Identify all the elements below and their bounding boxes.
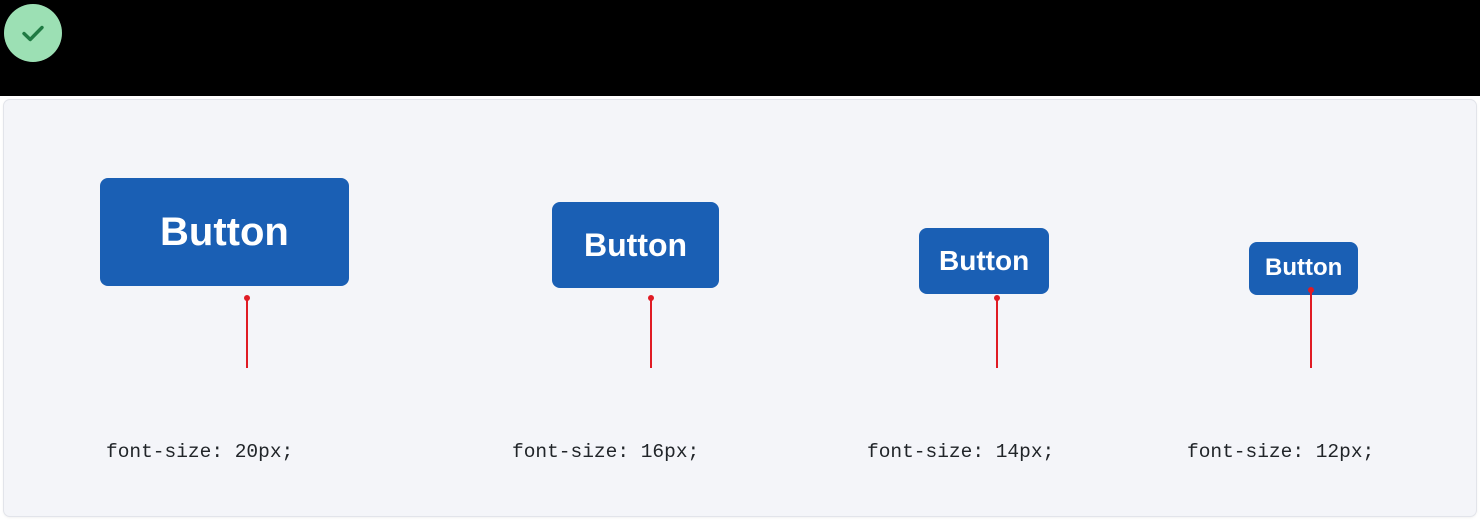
check-glyph-icon	[16, 16, 50, 50]
check-circle-icon	[4, 4, 62, 62]
leader-line-2	[650, 298, 652, 368]
caption-4-font-size: font-size: 12px;	[1187, 436, 1386, 468]
caption-1: font-size: 20px; padding: 15px 30px;	[106, 372, 328, 516]
caption-2-font-size: font-size: 16px;	[512, 436, 734, 468]
demo-button-1[interactable]: Button	[100, 178, 349, 286]
demo-button-2[interactable]: Button	[552, 202, 719, 288]
button-size-preview-panel: Button font-size: 20px; padding: 15px 30…	[4, 100, 1476, 516]
caption-3-font-size: font-size: 14px;	[867, 436, 1078, 468]
leader-line-3	[996, 298, 998, 368]
caption-4: font-size: 12px; padding: 6px 8px;	[1187, 372, 1386, 516]
caption-2: font-size: 16px; padding: 12px 16px;	[512, 372, 734, 516]
top-black-bar	[0, 0, 1480, 96]
caption-3: font-size: 14px; padding: 8px 10px;	[867, 372, 1078, 516]
demo-button-4[interactable]: Button	[1249, 242, 1358, 295]
demo-button-3[interactable]: Button	[919, 228, 1049, 294]
leader-line-4	[1310, 290, 1312, 368]
caption-1-font-size: font-size: 20px;	[106, 436, 328, 468]
leader-line-1	[246, 298, 248, 368]
